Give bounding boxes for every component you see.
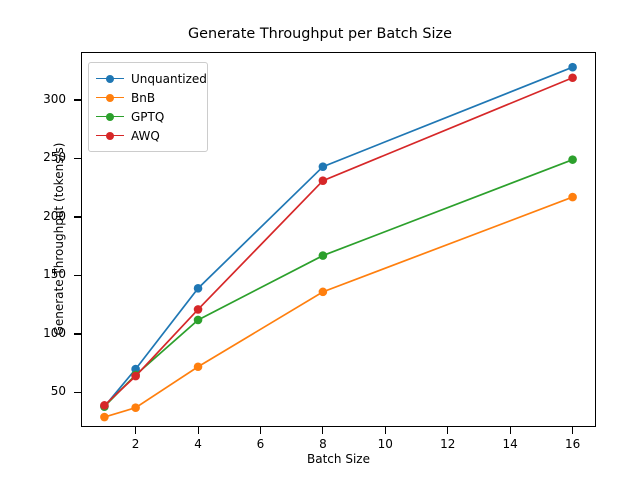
y-tick-mark	[74, 275, 81, 276]
data-point	[100, 413, 109, 422]
legend-swatch-icon	[96, 130, 124, 142]
data-point	[131, 372, 140, 381]
y-tick-mark	[74, 333, 81, 334]
legend-label: GPTQ	[131, 110, 164, 124]
data-point	[568, 155, 577, 164]
y-tick-mark	[74, 392, 81, 393]
page-title: Generate Throughput per Batch Size	[0, 26, 640, 42]
x-tick-label: 8	[303, 437, 343, 451]
legend-item-unquantized[interactable]: Unquantized	[96, 69, 199, 88]
data-point	[319, 288, 328, 297]
data-point	[568, 193, 577, 202]
chart-figure: Generate Throughput per Batch Size 50100…	[0, 0, 640, 480]
x-tick-mark	[510, 427, 511, 434]
legend: UnquantizedBnBGPTQAWQ	[88, 62, 208, 152]
data-point	[131, 403, 140, 412]
data-point	[568, 73, 577, 82]
x-tick-label: 2	[116, 437, 156, 451]
x-tick-mark	[572, 427, 573, 434]
legend-label: BnB	[131, 91, 155, 105]
x-tick-label: 6	[240, 437, 280, 451]
data-point	[194, 362, 203, 371]
legend-item-bnb[interactable]: BnB	[96, 88, 199, 107]
y-axis-label: Generate Throughput (tokens/s)	[52, 49, 66, 429]
legend-label: AWQ	[131, 129, 160, 143]
data-point	[319, 162, 328, 171]
legend-label: Unquantized	[131, 72, 207, 86]
data-point	[194, 284, 203, 293]
x-tick-label: 12	[428, 437, 468, 451]
data-point	[100, 401, 109, 410]
y-tick-mark	[74, 158, 81, 159]
data-point	[568, 63, 577, 72]
x-axis-label: Batch Size	[81, 452, 596, 466]
series-gptq	[100, 155, 577, 410]
series-bnb	[100, 193, 577, 422]
legend-item-gptq[interactable]: GPTQ	[96, 107, 199, 126]
x-tick-mark	[198, 427, 199, 434]
series-line	[104, 160, 572, 407]
y-tick-mark	[74, 216, 81, 217]
legend-item-awq[interactable]: AWQ	[96, 126, 199, 145]
series-line	[104, 197, 572, 417]
x-tick-label: 16	[553, 437, 593, 451]
y-tick-mark	[74, 99, 81, 100]
legend-swatch-icon	[96, 73, 124, 85]
x-tick-mark	[135, 427, 136, 434]
x-tick-label: 4	[178, 437, 218, 451]
data-point	[194, 316, 203, 325]
data-point	[194, 305, 203, 314]
x-tick-mark	[385, 427, 386, 434]
x-tick-mark	[260, 427, 261, 434]
data-point	[319, 251, 328, 260]
x-tick-label: 10	[365, 437, 405, 451]
legend-swatch-icon	[96, 111, 124, 123]
x-tick-label: 14	[490, 437, 530, 451]
legend-swatch-icon	[96, 92, 124, 104]
x-tick-mark	[447, 427, 448, 434]
x-tick-mark	[322, 427, 323, 434]
data-point	[319, 176, 328, 185]
